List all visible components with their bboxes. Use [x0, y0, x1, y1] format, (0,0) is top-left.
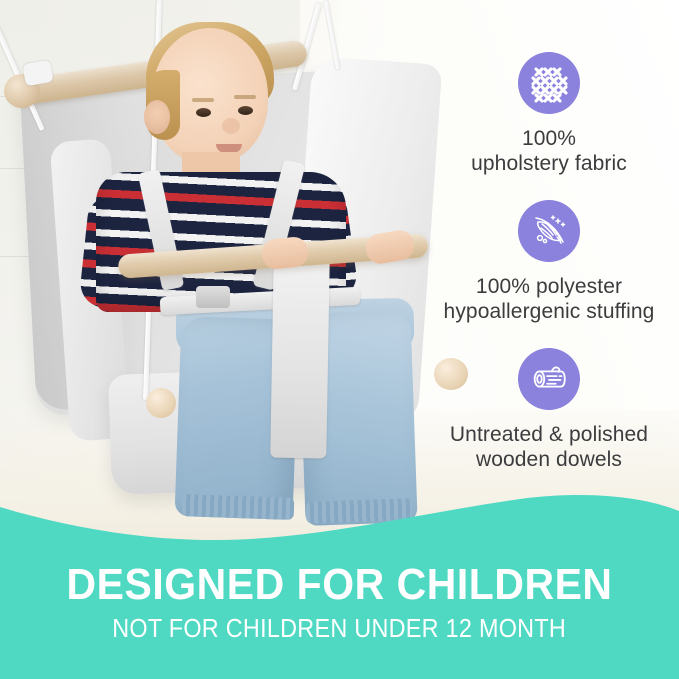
feature-list: 100% upholstery fabric: [419, 0, 679, 500]
woven-fabric-icon: [518, 52, 580, 114]
child-eye: [238, 106, 253, 115]
feature-item-wooden-dowels: Untreated & polished wooden dowels: [419, 348, 679, 472]
feature-line-1: 100%: [425, 126, 673, 151]
feature-item-upholstery-fabric: 100% upholstery fabric: [419, 52, 679, 176]
banner-headline: DESIGNED FOR CHILDREN: [67, 561, 613, 609]
feature-line-2: hypoallergenic stuffing: [425, 299, 673, 324]
harness-crotch-strap: [270, 258, 329, 459]
feature-text-wooden-dowels: Untreated & polished wooden dowels: [419, 422, 679, 472]
feature-line-1: 100% polyester: [425, 274, 673, 299]
feature-line-2: wooden dowels: [425, 447, 673, 472]
feature-text-upholstery-fabric: 100% upholstery fabric: [419, 126, 679, 176]
child-eyebrow: [234, 95, 256, 99]
child-nose: [222, 118, 240, 134]
child-eye: [196, 108, 211, 117]
wooden-dowel-ball-left: [146, 388, 176, 418]
bottom-banner: DESIGNED FOR CHILDREN NOT FOR CHILDREN U…: [0, 489, 679, 679]
feature-item-hypoallergenic-stuffing: 100% polyester hypoallergenic stuffing: [419, 200, 679, 324]
banner-text-block: DESIGNED FOR CHILDREN NOT FOR CHILDREN U…: [0, 489, 679, 679]
wooden-log-icon: [518, 348, 580, 410]
product-marketing-image: 100% upholstery fabric: [0, 0, 679, 679]
feather-icon: [518, 200, 580, 262]
child-eyebrow: [192, 98, 214, 102]
feature-line-2: upholstery fabric: [425, 151, 673, 176]
feature-line-1: Untreated & polished: [425, 422, 673, 447]
feature-text-hypoallergenic-stuffing: 100% polyester hypoallergenic stuffing: [419, 274, 679, 324]
banner-subline: NOT FOR CHILDREN UNDER 12 MONTH: [113, 613, 567, 643]
child-ear: [144, 100, 170, 134]
harness-buckle: [196, 286, 230, 308]
